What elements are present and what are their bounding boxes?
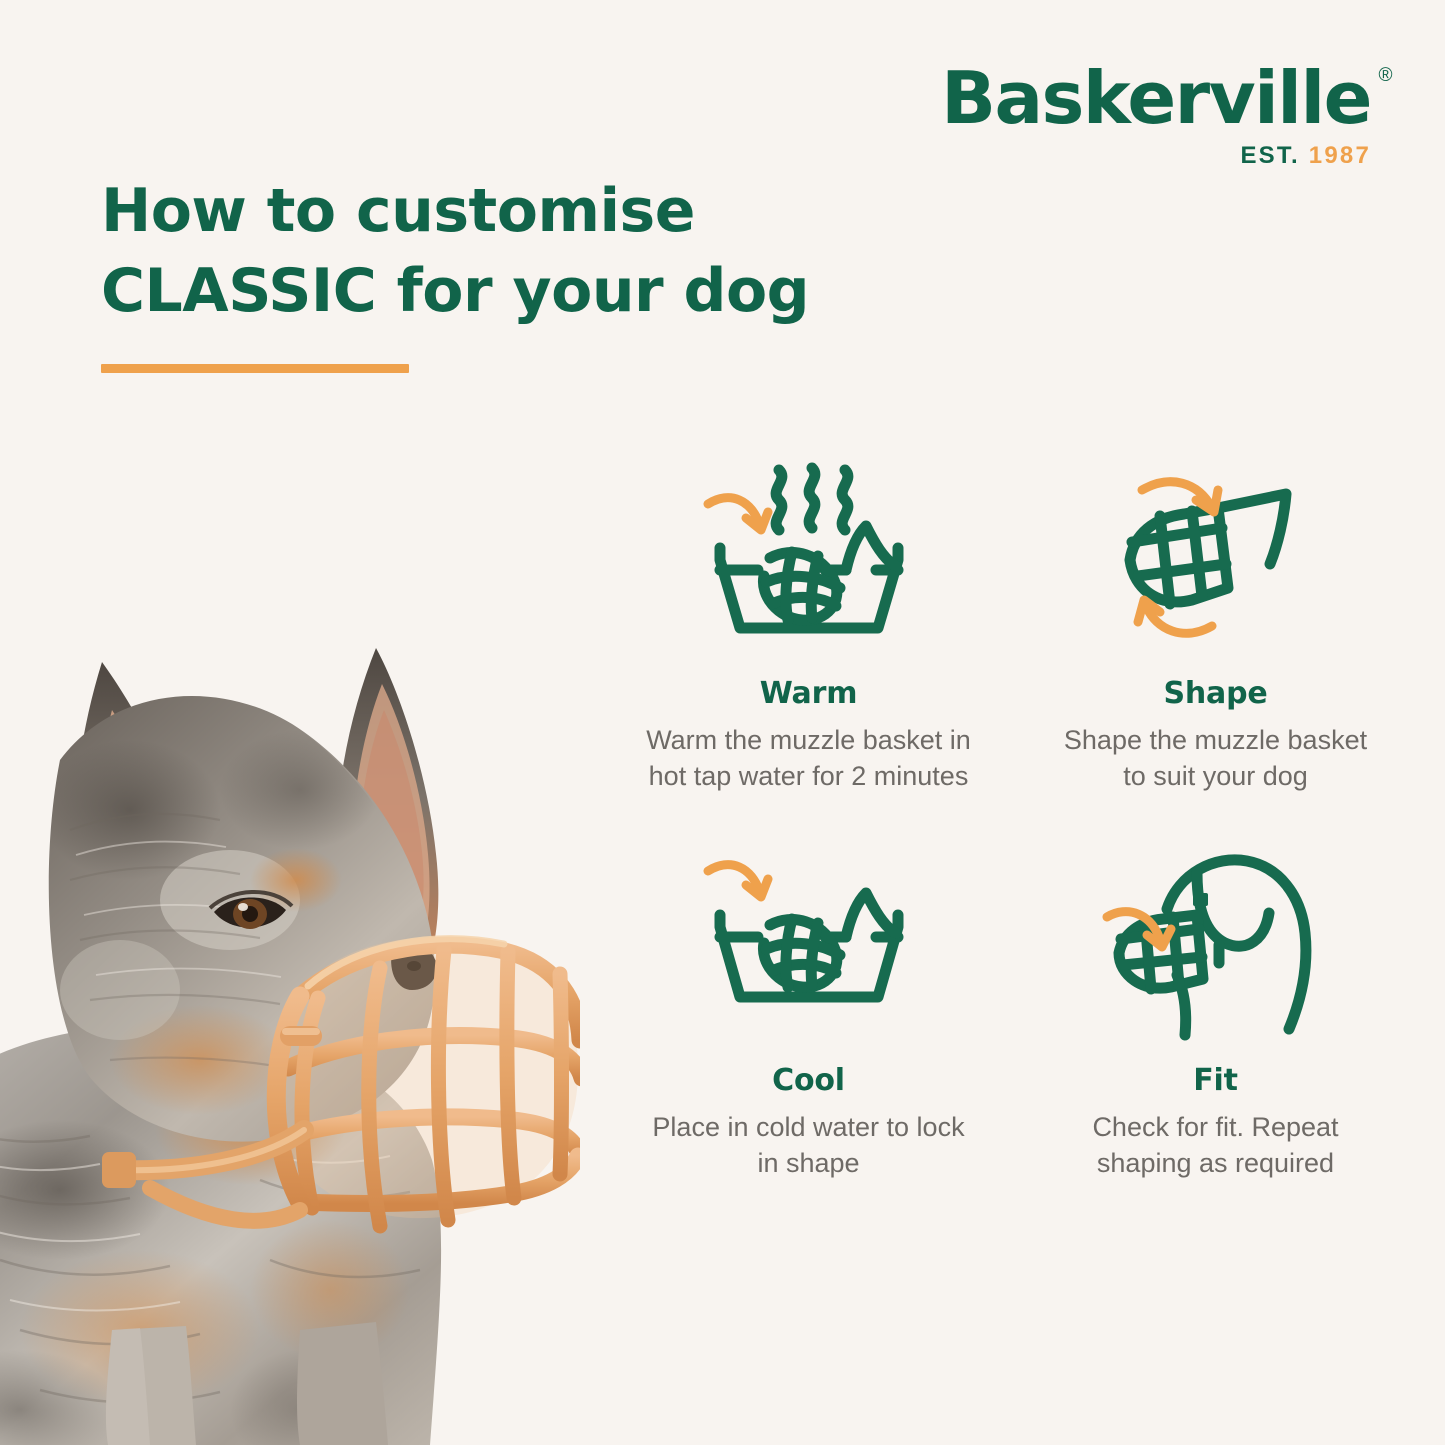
step-title-cool: Cool <box>772 1063 845 1098</box>
dog-head-with-muzzle-icon <box>1101 847 1331 1052</box>
arrow-down-icon <box>708 865 768 897</box>
poster-root: Baskerville® EST. 1987 How to customise … <box>0 0 1445 1445</box>
established-prefix: EST. <box>1240 142 1299 169</box>
brand-logo: Baskerville® EST. 1987 <box>941 62 1371 168</box>
step-card-cool: Cool Place in cold water to lock in shap… <box>612 842 1005 1181</box>
step-description-fit: Check for fit. Repeat shaping as require… <box>1051 1110 1381 1181</box>
established-year: 1987 <box>1309 142 1371 169</box>
page-title-line-1: How to customise <box>101 176 695 246</box>
basin-with-steam-icon <box>694 460 924 665</box>
muzzle-squeeze-arrows-icon <box>1108 460 1323 665</box>
dog-photo <box>0 430 580 1445</box>
step-title-warm: Warm <box>760 676 858 711</box>
step-description-shape: Shape the muzzle basket to suit your dog <box>1051 723 1381 794</box>
arrow-down-icon <box>708 498 768 530</box>
cool-icon-wrap <box>694 842 924 1057</box>
fit-icon-wrap <box>1101 842 1331 1057</box>
arrow-squeeze-top-icon <box>1142 482 1218 512</box>
step-title-fit: Fit <box>1193 1063 1238 1098</box>
warm-icon-wrap <box>694 455 924 670</box>
shape-icon-wrap <box>1108 455 1323 670</box>
page-title: How to customise CLASSIC for your dog <box>101 172 861 332</box>
basin-cold-water-icon <box>694 857 924 1042</box>
step-card-shape: Shape Shape the muzzle basket to suit yo… <box>1019 455 1412 794</box>
step-description-cool: Place in cold water to lock in shape <box>644 1110 974 1181</box>
registered-trademark-icon: ® <box>1379 66 1392 85</box>
brand-name: Baskerville <box>941 56 1371 140</box>
step-card-fit: Fit Check for fit. Repeat shaping as req… <box>1019 842 1412 1181</box>
step-card-warm: Warm Warm the muzzle basket in hot tap w… <box>612 455 1005 794</box>
page-title-line-2: CLASSIC for your dog <box>101 252 861 332</box>
step-title-shape: Shape <box>1163 676 1267 711</box>
step-description-warm: Warm the muzzle basket in hot tap water … <box>644 723 974 794</box>
instruction-steps-grid: Warm Warm the muzzle basket in hot tap w… <box>612 455 1412 1182</box>
dog-photo-illustration <box>0 430 580 1445</box>
brand-established: EST. 1987 <box>941 144 1371 168</box>
muzzle-strap-knob <box>280 1026 322 1046</box>
brand-wordmark: Baskerville® <box>941 62 1371 134</box>
title-underline-rule <box>101 364 409 373</box>
